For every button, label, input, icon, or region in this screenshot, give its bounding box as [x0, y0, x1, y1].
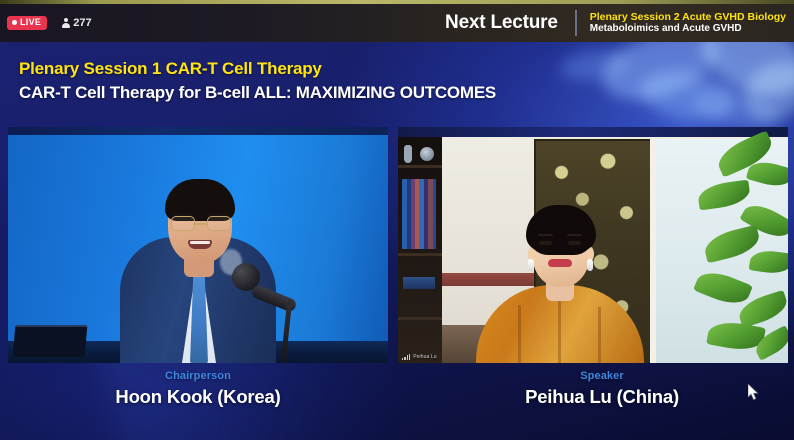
laptop-icon [13, 325, 88, 357]
eyeglasses-icon [171, 216, 195, 231]
speaker-hair [526, 205, 596, 251]
speaker-brow-right [567, 234, 582, 237]
chairperson-mouth [188, 240, 212, 249]
blouse-fold [598, 307, 601, 363]
books-row [402, 179, 436, 249]
speaker-name: Peihua Lu (China) [452, 386, 752, 408]
chairperson-role-label: Chairperson [48, 370, 348, 382]
speaker-role-label: Speaker [452, 370, 752, 382]
next-session-title: Plenary Session 2 Acute GVHD Biology [590, 11, 786, 23]
session-title: Plenary Session 1 CAR-T Cell Therapy [19, 58, 496, 79]
next-session-subtitle: Metaboloimics and Acute GVHD [590, 23, 786, 35]
blouse-fold [558, 297, 561, 363]
bookshelf-divider [398, 253, 442, 256]
speaker-eye-right [568, 241, 581, 245]
header-divider [575, 10, 577, 36]
speaker-name-block: Speaker Peihua Lu (China) [452, 370, 752, 408]
live-label: LIVE [20, 18, 41, 27]
talk-title: CAR-T Cell Therapy for B-cell ALL: MAXIM… [19, 82, 496, 103]
current-session-titles: Plenary Session 1 CAR-T Cell Therapy CAR… [19, 58, 496, 103]
video-participant-name: Peihua Lu [413, 354, 436, 360]
viewer-count-value: 277 [73, 17, 91, 29]
viewer-count: 277 [61, 17, 91, 29]
next-session-info: Plenary Session 2 Acute GVHD Biology Met… [590, 11, 788, 35]
blouse-fold [518, 305, 521, 363]
next-lecture-label: Next Lecture [445, 12, 558, 34]
eyeglasses-icon [207, 216, 231, 231]
bookcase [398, 137, 442, 363]
signal-strength-icon [402, 354, 410, 360]
live-dot-icon [12, 20, 17, 25]
eyeglasses-bridge [193, 223, 207, 225]
speaker-brow-left [538, 234, 553, 237]
video-participant-label: Peihua Lu [402, 354, 437, 360]
header-right-group: Next Lecture Plenary Session 2 Acute GVH… [445, 10, 788, 36]
person-icon [61, 18, 70, 28]
bookshelf-divider [398, 165, 442, 168]
speaker-lips [548, 259, 572, 267]
video-top-band [8, 127, 388, 135]
decorative-plate-icon [420, 147, 434, 161]
earring-icon [587, 259, 593, 271]
live-status-badge: LIVE [7, 16, 47, 30]
video-tile-speaker[interactable]: Peihua Lu [398, 127, 788, 363]
bookshelf-divider [398, 317, 442, 320]
speaker-eye-left [539, 241, 552, 245]
broadcast-stage: LIVE 277 Next Lecture Plenary Session 2 … [0, 0, 794, 440]
video-tile-chairperson[interactable] [8, 127, 388, 363]
video-top-band [398, 127, 788, 137]
books-row [403, 277, 435, 289]
chairperson-name: Hoon Kook (Korea) [48, 386, 348, 408]
broadcast-header-bar: LIVE 277 Next Lecture Plenary Session 2 … [0, 4, 794, 42]
earring-icon [528, 259, 534, 271]
vase-icon [404, 145, 412, 163]
chairperson-name-block: Chairperson Hoon Kook (Korea) [48, 370, 348, 408]
